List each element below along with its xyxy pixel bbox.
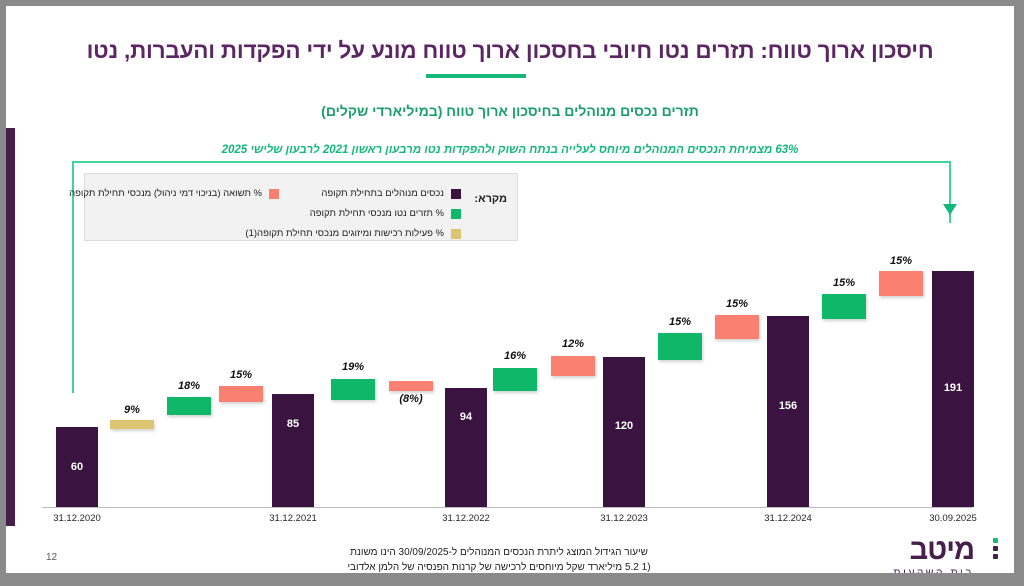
page-title: חיסכון ארוך טווח: תזרים נטו חיובי בחסכון… (80, 38, 940, 64)
bar-value-2025: 191 (932, 382, 974, 394)
bridge-label-net-flow-2024: 15% (658, 316, 702, 328)
xlabel-2023: 31.12.2023 (579, 513, 669, 524)
chart-legend: מקרא: נכסים מנוהלים בתחילת תקופה % תזרים… (84, 173, 518, 241)
bar-value-2024: 156 (767, 400, 809, 412)
bridge-bar-return-2021 (219, 386, 263, 402)
bar-2020: 60 (56, 427, 98, 507)
bridge-label-net-flow-2022: 19% (331, 361, 375, 373)
legend-label-managed-assets: נכסים מנוהלים בתחילת תקופה (321, 188, 444, 199)
bar-2024: 156 (767, 316, 809, 507)
xlabel-2020: 31.12.2020 (32, 513, 122, 524)
bridge-label-net-flow-2025: 15% (822, 277, 866, 289)
legend-swatch-return (269, 189, 279, 199)
footnote: שיעור הגידול המוצג ליתרת הנכסים המנוהלים… (284, 545, 714, 573)
bridge-bar-net-flow-2023 (493, 368, 537, 391)
legend-swatch-net-flow (451, 209, 461, 219)
xlabel-2021: 31.12.2021 (248, 513, 338, 524)
bridge-bar-return-2025 (879, 271, 923, 296)
chart-subtitle: תזרים נכסים מנוהלים בחיסכון ארוך טווח (ב… (6, 103, 1014, 119)
legend-label-net-flow: % תזרים נטו מנכסי תחילת תקופה (310, 208, 444, 219)
bridge-label-return-2025: 15% (879, 255, 923, 267)
bar-value-2022: 94 (445, 411, 487, 423)
page-number: 12 (46, 552, 57, 563)
bridge-bar-net-flow-2021 (167, 397, 211, 415)
bar-value-2020: 60 (56, 461, 98, 473)
logo-tagline: בית השקעות (893, 567, 974, 573)
bracket-right-leg (949, 161, 951, 209)
logo-dots-icon (993, 538, 998, 562)
slide: חיסכון ארוך טווח: תזרים נטו חיובי בחסכון… (6, 6, 1014, 573)
bridge-label-return-2021: 15% (219, 369, 263, 381)
bar-2021: 85 (272, 394, 314, 507)
xlabel-2024: 31.12.2024 (743, 513, 833, 524)
legend-swatch-managed-assets (451, 189, 461, 199)
bar-value-2021: 85 (272, 418, 314, 430)
legend-item-return: % תשואה (בניכוי דמי ניהול) מנכסי תחילת ת… (69, 186, 279, 201)
bridge-bar-net-flow-2025 (822, 294, 866, 319)
xlabel-2022: 31.12.2022 (421, 513, 511, 524)
bridge-label-acquisitions-2021: 9% (110, 404, 154, 416)
xlabel-2025: 30.09.2025 (908, 513, 998, 524)
bridge-bar-return-2024 (715, 315, 759, 339)
bridge-bar-return-2023 (551, 356, 595, 376)
legend-label-acquisitions: % פעילות רכישות ומיזוגים מנכסי תחילת תקו… (245, 228, 444, 239)
footnote-line-1: שיעור הגידול המוצג ליתרת הנכסים המנוהלים… (284, 545, 714, 560)
bridge-bar-acquisitions-2021 (110, 420, 154, 429)
bar-2022: 94 (445, 388, 487, 507)
bridge-label-return-2023: 12% (551, 338, 595, 350)
bridge-bar-return-2022 (389, 381, 433, 391)
company-logo: מיטב בית השקעות (850, 534, 1000, 573)
bridge-label-return-2024: 15% (715, 298, 759, 310)
chart-axis-line (42, 507, 972, 508)
bridge-bar-net-flow-2022 (331, 379, 375, 400)
legend-item-acquisitions: % פעילות רכישות ומיזוגים מנכסי תחילת תקו… (245, 226, 461, 241)
bar-value-2023: 120 (603, 420, 645, 432)
legend-label-return: % תשואה (בניכוי דמי ניהול) מנכסי תחילת ת… (69, 188, 262, 199)
legend-title: מקרא: (474, 193, 507, 205)
bridge-label-net-flow-2023: 16% (493, 350, 537, 362)
logo-wordmark: מיטב (910, 534, 974, 567)
left-accent-bar (6, 128, 15, 526)
legend-item-net-flow: % תזרים נטו מנכסי תחילת תקופה (245, 206, 461, 221)
bracket-arrow-icon (943, 204, 957, 215)
legend-swatch-acquisitions (451, 229, 461, 239)
footnote-line-2: (1 5.2 מיליארד שקל מיוחסים לרכישה של קרנ… (284, 560, 714, 573)
title-underline (426, 74, 526, 78)
bar-2023: 120 (603, 357, 645, 507)
bridge-label-net-flow-2021: 18% (167, 380, 211, 392)
bridge-bar-net-flow-2024 (658, 333, 702, 360)
bridge-label-return-2022: (8%) (386, 393, 436, 405)
bar-2025: 191 (932, 271, 974, 507)
chart-annotation: 63% מצמיחת הנכסים המנוהלים מיוחס לעלייה … (6, 144, 1014, 156)
